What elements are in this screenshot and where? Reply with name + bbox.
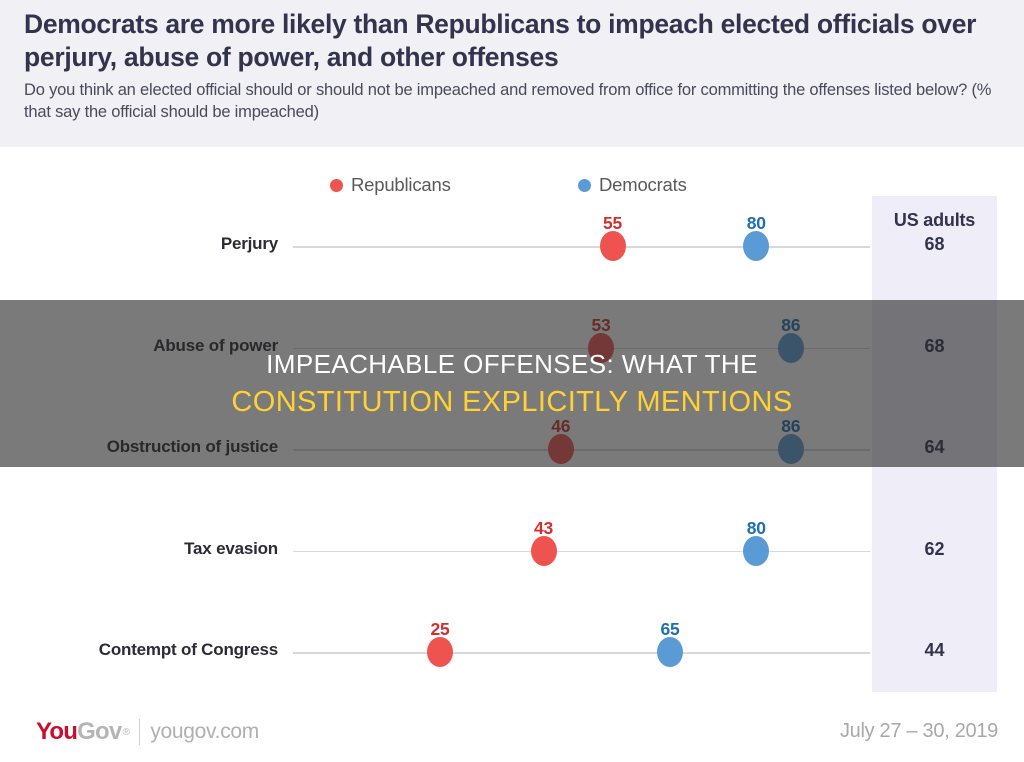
data-label-republicans: 25 bbox=[430, 619, 449, 640]
row-label: Perjury bbox=[0, 234, 278, 254]
row-baseline bbox=[293, 246, 870, 248]
row-label: Tax evasion bbox=[0, 539, 278, 559]
data-label-republicans: 55 bbox=[603, 213, 622, 234]
page-title: Democrats are more likely than Republica… bbox=[24, 8, 998, 74]
logo-divider bbox=[139, 719, 141, 745]
chart-footer: YouGov® yougov.com July 27 – 30, 2019 bbox=[0, 700, 1024, 762]
row-baseline bbox=[293, 652, 870, 654]
data-point-republicans[interactable] bbox=[531, 536, 557, 566]
chart-row: Contempt of Congress256544 bbox=[0, 602, 1024, 704]
caption-line-2: CONSTITUTION EXPLICITLY MENTIONS bbox=[231, 386, 792, 419]
data-point-republicans[interactable] bbox=[600, 231, 626, 261]
page-subtitle: Do you think an elected official should … bbox=[24, 79, 998, 123]
data-label-republicans: 43 bbox=[534, 518, 553, 539]
us-adults-value: 62 bbox=[872, 539, 997, 560]
legend-dot-democrats-icon bbox=[578, 179, 591, 192]
chart-header: Democrats are more likely than Republica… bbox=[0, 0, 1024, 147]
logo-you-text: You bbox=[36, 718, 77, 746]
row-label: Contempt of Congress bbox=[0, 640, 278, 660]
legend-label-democrats: Democrats bbox=[599, 174, 687, 196]
chart-canvas: Democrats are more likely than Republica… bbox=[0, 0, 1024, 762]
us-adults-value: 44 bbox=[872, 640, 997, 661]
legend-dot-republicans-icon bbox=[330, 179, 343, 192]
data-point-republicans[interactable] bbox=[427, 637, 453, 667]
chart-row: Perjury558068 bbox=[0, 196, 1024, 298]
chart-row: Tax evasion438062 bbox=[0, 501, 1024, 603]
row-baseline bbox=[293, 551, 870, 553]
survey-date: July 27 – 30, 2019 bbox=[840, 720, 998, 743]
legend-label-republicans: Republicans bbox=[351, 174, 451, 196]
legend-item-republicans[interactable]: Republicans bbox=[330, 174, 451, 196]
caption-overlay: IMPEACHABLE OFFENSES: WHAT THE CONSTITUT… bbox=[0, 300, 1024, 467]
yougov-logo: YouGov® yougov.com bbox=[36, 718, 259, 746]
legend-item-democrats[interactable]: Democrats bbox=[578, 174, 687, 196]
data-label-democrats: 65 bbox=[660, 619, 679, 640]
data-point-democrats[interactable] bbox=[657, 637, 683, 667]
data-label-democrats: 80 bbox=[747, 213, 766, 234]
logo-gov-text: Gov bbox=[77, 718, 121, 746]
logo-url-text: yougov.com bbox=[150, 720, 259, 744]
data-point-democrats[interactable] bbox=[743, 536, 769, 566]
data-label-democrats: 80 bbox=[747, 518, 766, 539]
data-point-democrats[interactable] bbox=[743, 231, 769, 261]
caption-line-1: IMPEACHABLE OFFENSES: WHAT THE bbox=[266, 349, 758, 380]
logo-trademark-icon: ® bbox=[122, 727, 129, 738]
us-adults-value: 68 bbox=[872, 234, 997, 255]
